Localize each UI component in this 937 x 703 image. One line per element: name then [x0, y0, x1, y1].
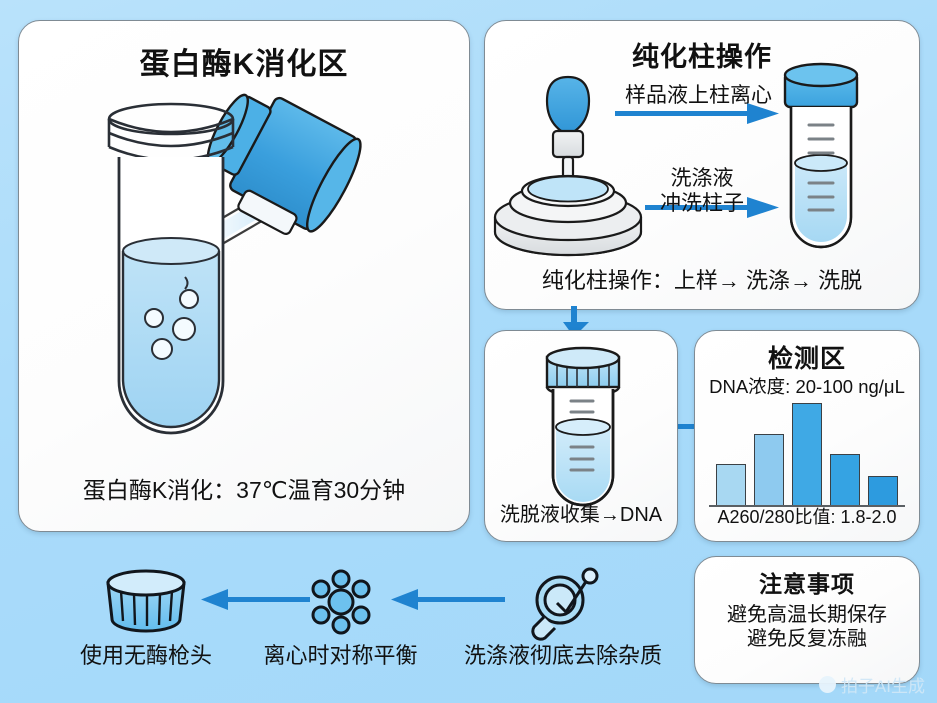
- precaution-line: 避免反复冻融: [695, 628, 919, 652]
- chart-bar: [868, 476, 898, 505]
- panel-detect-title: 检测区: [695, 339, 919, 375]
- arrow-label-wash-line1: 洗涤液: [660, 167, 744, 192]
- panel-digest-caption: 蛋白酶K消化：37℃温育30分钟: [19, 471, 469, 505]
- a260-280-ratio-label: A260/280比值: 1.8-2.0: [695, 503, 919, 529]
- collection-tube-icon: [785, 64, 857, 247]
- arrow-label-load-sample: 样品液上柱离心: [625, 79, 772, 109]
- sample-tube-icon: [109, 104, 233, 433]
- dna-concentration-label: DNA浓度: 20-100 ng/μL: [695, 373, 919, 399]
- watermark: 拍子AI生成: [819, 672, 925, 697]
- panel-detection-zone: 检测区 DNA浓度: 20-100 ng/μL A260/280比值: 1.8-…: [694, 330, 920, 542]
- tip-label: 离心时对称平衡: [243, 638, 438, 670]
- panel-purification-column: 纯化柱操作: [484, 20, 920, 310]
- panel-notes-title: 注意事项: [695, 565, 919, 599]
- panel-column-caption: 纯化柱操作：上样→ 洗涤→ 洗脱: [485, 263, 919, 295]
- panel-eluate-caption: 洗脱液收集→DNA: [485, 498, 677, 527]
- tip-wash-removes-impurities: 洗涤液彻底去除杂质: [448, 566, 678, 670]
- arrow-label-wash: 洗涤液 冲洗柱子: [660, 167, 744, 217]
- spin-column-icon: [495, 176, 641, 255]
- watermark-text: 拍子AI生成: [841, 672, 925, 697]
- panel-proteinase-k-digestion: 蛋白酶K消化区: [18, 20, 470, 532]
- tip-label: 使用无酶枪头: [40, 638, 252, 670]
- chart-bar: [830, 454, 860, 505]
- tip-enzyme-free-tips: 使用无酶枪头: [40, 566, 252, 670]
- tip-symmetric-balance: 离心时对称平衡: [243, 566, 438, 670]
- watermark-logo-icon: [819, 676, 836, 693]
- chart-bar: [792, 403, 822, 505]
- precaution-list: 避免高温长期保存避免反复冻融: [695, 604, 919, 651]
- arrow-left-tip-2-to-1-icon: [200, 588, 310, 612]
- chart-bar: [754, 434, 784, 505]
- arrow-left-tip-3-to-2-icon: [390, 588, 505, 612]
- panel-eluate-collection: 洗脱液收集→DNA: [484, 330, 678, 542]
- tip-label: 洗涤液彻底去除杂质: [448, 638, 678, 670]
- arrow-label-wash-line2: 冲洗柱子: [660, 192, 744, 217]
- precaution-line: 避免高温长期保存: [695, 604, 919, 628]
- digest-illustration: [19, 61, 471, 501]
- chart-bar: [716, 464, 746, 505]
- panel-precautions: 注意事项 避免高温长期保存避免反复冻融: [694, 556, 920, 684]
- detection-bar-chart: [709, 403, 905, 507]
- eluate-illustration: [485, 343, 679, 503]
